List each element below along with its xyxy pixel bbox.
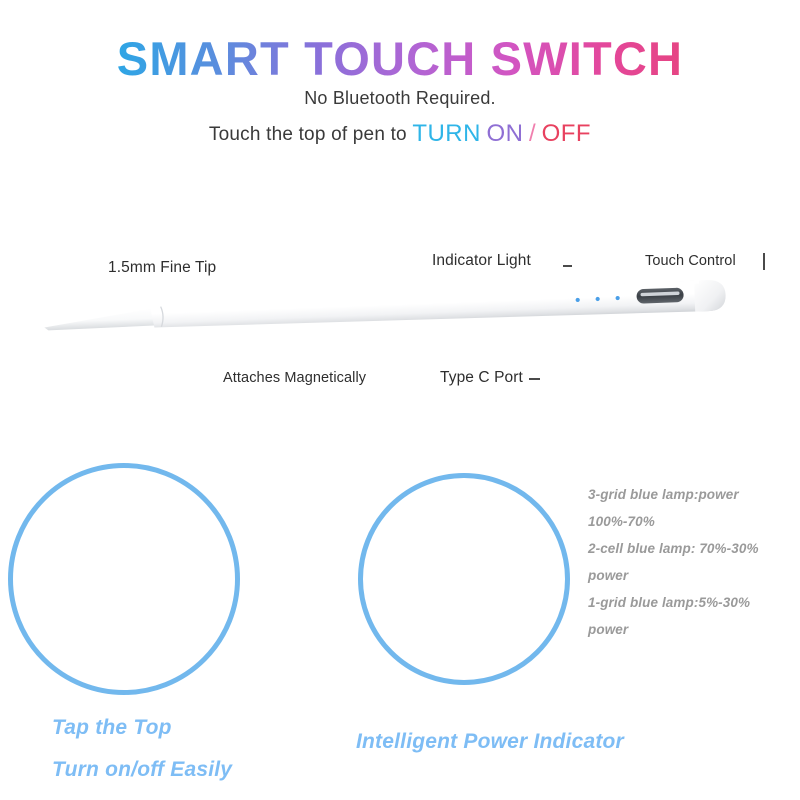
- caption-tap-the-top: Tap the Top: [52, 716, 172, 740]
- tagline-on: ON: [486, 120, 523, 147]
- spec-line-2-cell: 2-cell blue lamp: 70%-30% power: [588, 535, 788, 589]
- power-indicator-spec-text: 3-grid blue lamp:power 100%-70% 2-cell b…: [588, 481, 788, 643]
- spec-line-1-grid: 1-grid blue lamp:5%-30% power: [588, 589, 788, 643]
- pen-cap-end: [694, 280, 726, 312]
- circle-outline-tap-top: [8, 463, 240, 695]
- product-marketing-image: SMART TOUCH SWITCH No Bluetooth Required…: [0, 0, 800, 800]
- tagline-turn: TURN: [412, 120, 481, 147]
- subtitle-no-bluetooth: No Bluetooth Required.: [0, 88, 800, 109]
- caption-intelligent-power-indicator: Intelligent Power Indicator: [356, 730, 624, 754]
- caption-turn-on-off: Turn on/off Easily: [52, 758, 232, 782]
- tagline: Touch the top of pen to TURN ON / OFF: [0, 120, 800, 148]
- circle-outline-power-indicator: [358, 473, 570, 685]
- spec-line-3-grid: 3-grid blue lamp:power 100%-70%: [588, 481, 788, 535]
- leader-line-type-c: [529, 378, 540, 380]
- pen-tip: [44, 308, 157, 330]
- tagline-prefix: Touch the top of pen to: [209, 124, 407, 145]
- label-type-c-port: Type C Port: [440, 369, 523, 387]
- type-c-port: [636, 288, 683, 304]
- label-attaches-magnetically: Attaches Magnetically: [223, 370, 366, 386]
- page-title: SMART TOUCH SWITCH: [0, 34, 800, 83]
- leader-line-indicator: [563, 265, 572, 267]
- stylus-pen-hero-image: [40, 272, 730, 344]
- leader-line-touch-control: [763, 253, 765, 270]
- label-touch-control: Touch Control: [645, 253, 736, 269]
- tagline-off: OFF: [542, 120, 592, 147]
- pen-barrel: [149, 280, 724, 332]
- label-fine-tip: 1.5mm Fine Tip: [108, 259, 216, 277]
- label-indicator-light: Indicator Light: [432, 252, 531, 270]
- pen-body-group: [43, 280, 726, 336]
- tagline-slash: /: [529, 120, 536, 147]
